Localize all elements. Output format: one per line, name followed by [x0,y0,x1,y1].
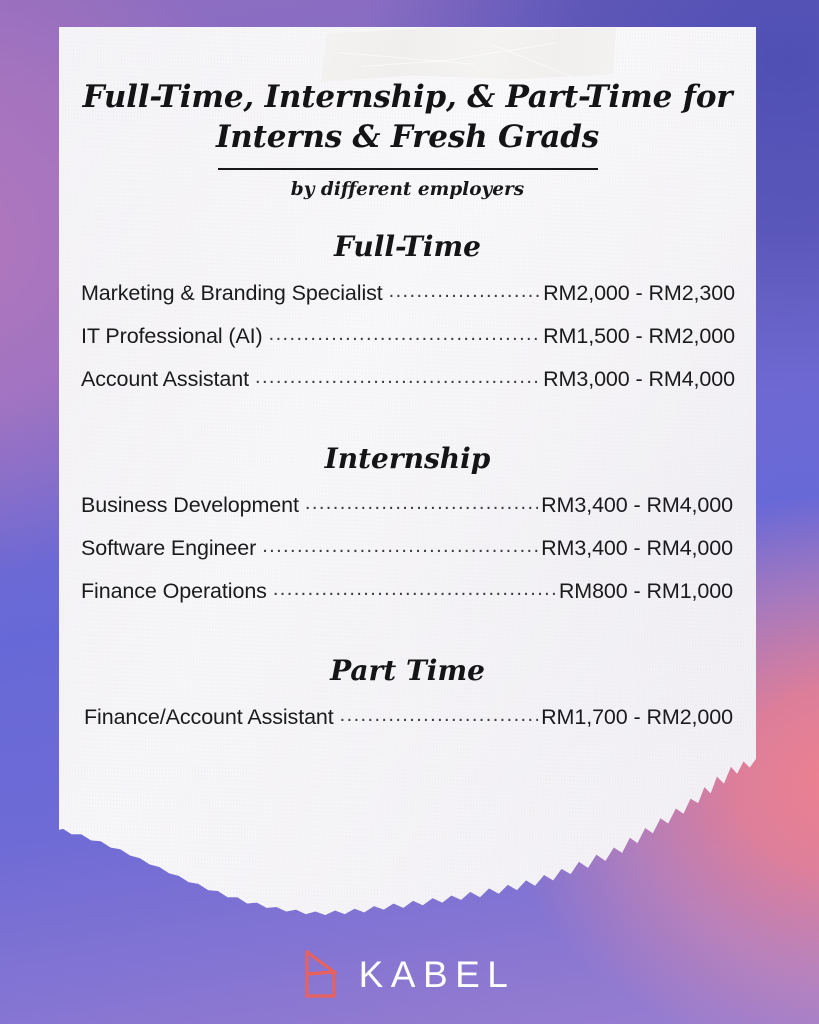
job-row: IT Professional (AI) RM1,500 - RM2,000 [81,324,735,349]
salary-range: RM1,500 - RM2,000 [543,324,735,349]
salary-range: RM800 - RM1,000 [559,579,733,604]
job-list-part-time: Finance/Account Assistant RM1,700 - RM2,… [79,705,736,730]
section-internship: Internship Business Development RM3,400 … [79,442,736,604]
dot-leader [389,280,540,303]
job-row: Finance Operations RM800 - RM1,000 [81,579,733,604]
section-full-time: Full-Time Marketing & Branding Specialis… [79,230,736,392]
poster-background: Full-Time, Internship, & Part-Time for I… [0,0,819,1024]
salary-range: RM2,000 - RM2,300 [543,281,735,306]
section-heading-internship: Internship [79,442,736,475]
torn-paper-sheet: Full-Time, Internship, & Part-Time for I… [59,27,756,915]
job-row: Marketing & Branding Specialist RM2,000 … [81,281,735,306]
section-heading-full-time: Full-Time [79,230,736,263]
job-title: Account Assistant [81,367,249,392]
page-title: Full-Time, Internship, & Part-Time for I… [79,77,736,158]
dot-leader [305,492,538,515]
salary-range: RM3,400 - RM4,000 [541,536,733,561]
job-title: IT Professional (AI) [81,324,263,349]
job-title: Business Development [81,493,299,518]
salary-range: RM1,700 - RM2,000 [541,705,733,730]
salary-range: RM3,400 - RM4,000 [541,493,733,518]
title-line-1: Full-Time, Internship, & Part-Time for [83,79,733,115]
job-title: Marketing & Branding Specialist [81,281,383,306]
dot-leader [262,535,538,558]
salary-range: RM3,000 - RM4,000 [543,367,735,392]
job-row: Finance/Account Assistant RM1,700 - RM2,… [84,705,733,730]
title-line-2: Interns & Fresh Grads [216,119,599,155]
section-heading-part-time: Part Time [79,654,736,687]
job-title: Finance/Account Assistant [84,705,334,730]
subtitle: by different employers [79,179,736,200]
job-row: Account Assistant RM3,000 - RM4,000 [81,367,735,392]
job-row: Software Engineer RM3,400 - RM4,000 [81,536,733,561]
dot-leader [273,578,556,601]
job-row: Business Development RM3,400 - RM4,000 [81,493,733,518]
brand-footer: KABEL [0,950,819,998]
section-part-time: Part Time Finance/Account Assistant RM1,… [79,654,736,730]
job-title: Finance Operations [81,579,267,604]
dot-leader [255,366,540,389]
title-divider [218,168,598,170]
poster-content: Full-Time, Internship, & Part-Time for I… [59,27,756,730]
kabel-logo-icon [304,950,338,998]
dot-leader [269,323,540,346]
job-list-full-time: Marketing & Branding Specialist RM2,000 … [79,281,736,392]
brand-wordmark: KABEL [357,956,516,993]
dot-leader [340,704,538,727]
job-title: Software Engineer [81,536,256,561]
job-list-internship: Business Development RM3,400 - RM4,000 S… [79,493,736,604]
